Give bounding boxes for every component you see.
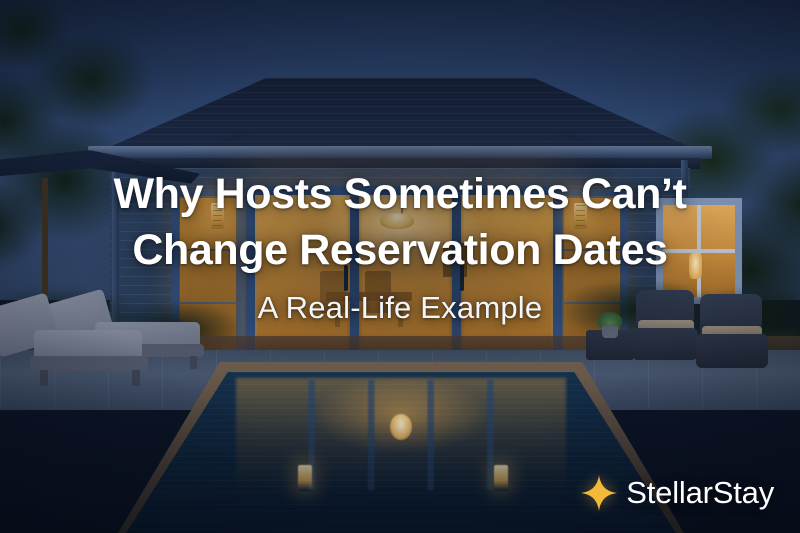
- headline-line-2: Change Reservation Dates: [0, 222, 800, 278]
- page-subtitle: A Real-Life Example: [0, 290, 800, 326]
- four-point-star-icon: [581, 475, 617, 511]
- headline-line-1: Why Hosts Sometimes Can’t: [0, 166, 800, 222]
- brand-name: StellarStay: [626, 475, 774, 511]
- page-title: Why Hosts Sometimes Can’t Change Reserva…: [0, 166, 800, 278]
- brand-logo[interactable]: StellarStay: [581, 475, 774, 511]
- banner-canvas: Why Hosts Sometimes Can’t Change Reserva…: [0, 0, 800, 533]
